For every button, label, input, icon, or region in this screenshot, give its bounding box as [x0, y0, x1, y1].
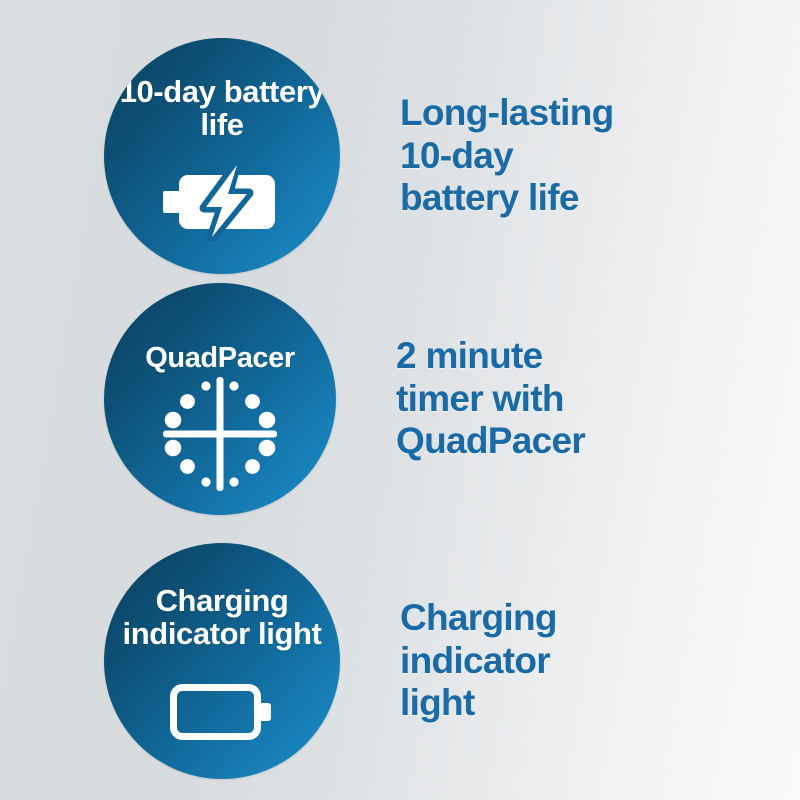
feature-heading: Charging indicator light — [400, 597, 557, 726]
feature-badge-quadpacer: QuadPacer — [104, 283, 336, 515]
feature-badge-battery-life: 10-day battery life — [104, 38, 340, 274]
quadpacer-crosshair-icon — [162, 376, 278, 497]
battery-bolt-icon — [163, 163, 281, 246]
feature-row: Charging indicator light Charging indica… — [0, 543, 800, 779]
feature-heading: Long-lasting 10-day battery life — [400, 92, 614, 221]
badge-label: 10-day battery life — [104, 76, 340, 141]
battery-outline-icon — [170, 684, 274, 745]
badge-label: QuadPacer — [104, 343, 336, 373]
feature-heading: 2 minute timer with QuadPacer — [396, 335, 585, 464]
feature-badge-charging-light: Charging indicator light — [104, 543, 340, 779]
badge-label: Charging indicator light — [104, 585, 340, 650]
feature-infographic: 10-day battery life Long-lasting 10-day … — [0, 0, 800, 800]
feature-row: 10-day battery life Long-lasting 10-day … — [0, 38, 800, 274]
feature-row: QuadPacer — [0, 283, 800, 515]
